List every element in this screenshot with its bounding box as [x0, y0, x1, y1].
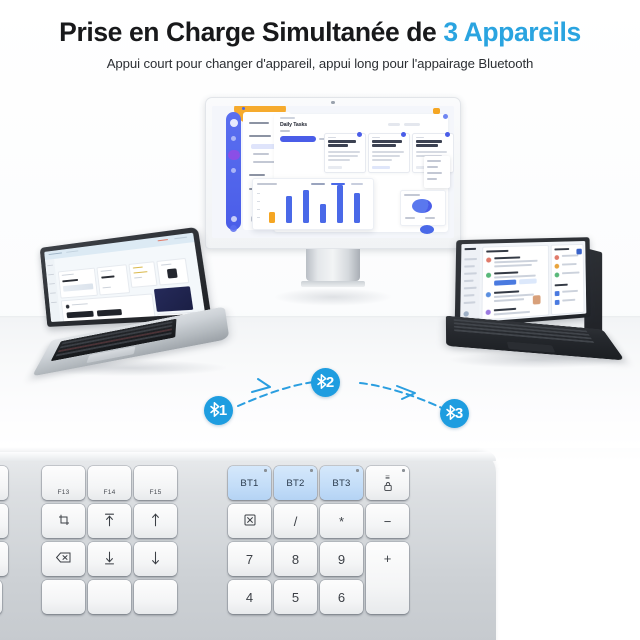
down-arrow-icon	[150, 551, 161, 568]
tablet	[447, 238, 622, 378]
led-indicator	[356, 469, 359, 472]
key-bt3[interactable]: BT3	[320, 466, 363, 500]
bar-chart-card	[252, 178, 374, 230]
key-arrow-down[interactable]	[134, 542, 177, 576]
progress-bar	[280, 136, 316, 142]
key-multiply-label: *	[339, 515, 344, 528]
key-plus-label: +	[384, 552, 392, 565]
key-backspace[interactable]: ←	[0, 504, 8, 538]
key-num5[interactable]: 5	[274, 580, 317, 614]
dashboard-eyebrow	[280, 117, 295, 119]
key-f15[interactable]: F15	[134, 466, 177, 500]
delete-icon-svg	[56, 552, 71, 563]
key-f13-label: F13	[58, 489, 70, 496]
led-indicator	[402, 469, 405, 472]
monitor-bezel: Daily Tasks	[205, 97, 461, 249]
key-crop[interactable]	[42, 504, 85, 538]
key-enter[interactable]	[0, 542, 8, 576]
message-list	[481, 245, 549, 321]
crop-icon-svg	[58, 514, 70, 526]
key-f13[interactable]: F13	[42, 466, 85, 500]
browser-chrome	[44, 233, 194, 260]
rail-item-icon	[231, 136, 236, 141]
delete-icon	[56, 552, 71, 566]
header: Prise en Charge Simultanée de 3 Appareil…	[0, 0, 640, 71]
down-arrow-icon-svg	[150, 551, 161, 565]
metric-card	[58, 268, 98, 299]
decor-dot	[230, 225, 237, 232]
page-up-icon	[104, 513, 115, 530]
key-nav-blank-2[interactable]	[88, 580, 131, 614]
led-indicator	[310, 469, 313, 472]
metric-card	[96, 264, 130, 295]
laptop-lid	[40, 227, 212, 327]
task-card	[324, 133, 366, 173]
key-num6-label: 6	[338, 591, 345, 604]
key-f14[interactable]: F14	[88, 466, 131, 500]
bt-badge-3-number: 3	[455, 406, 463, 421]
lock-small-icon-svg	[384, 482, 392, 491]
key-num9[interactable]: 9	[320, 542, 363, 576]
clear-icon	[244, 514, 256, 529]
monitor-shadow	[273, 288, 393, 306]
key-divide-label: /	[294, 515, 298, 528]
bt-badge-1-number: 1	[219, 403, 227, 418]
key-f15-label: F15	[150, 489, 162, 496]
key-bt1-label: BT1	[240, 478, 258, 489]
desktop-monitor: Daily Tasks	[205, 97, 461, 287]
menu-lines-icon: ≡	[385, 474, 390, 481]
bluetooth-keyboard: ← F13 F14 F15	[0, 452, 496, 640]
key-bt1[interactable]: BT1	[228, 466, 271, 500]
key-shift[interactable]	[0, 580, 2, 614]
key-nav-blank-3[interactable]	[134, 580, 177, 614]
bt-badge-1[interactable]: 1	[204, 396, 233, 425]
rail-logo-icon	[230, 119, 238, 127]
key-minus-label: −	[384, 515, 392, 528]
key-page-down[interactable]	[88, 542, 131, 576]
media-card	[154, 286, 193, 312]
key-plus[interactable]: +	[366, 542, 409, 614]
page-up-icon-svg	[104, 513, 115, 527]
laptop-screen	[44, 233, 205, 322]
key-nav-blank-1[interactable]	[42, 580, 85, 614]
key-num8-label: 8	[292, 553, 299, 566]
list-card	[61, 293, 157, 322]
key-num7[interactable]: 7	[228, 542, 271, 576]
keyboard-top-rim	[0, 452, 496, 461]
lock-small-icon	[384, 482, 392, 493]
clear-icon-svg	[244, 514, 256, 526]
bt-badge-3[interactable]: 3	[440, 399, 469, 428]
dashboard-rail	[226, 112, 241, 230]
bt-badge-2-number: 2	[326, 375, 334, 390]
stat-card	[128, 261, 157, 288]
tablet-app-sidebar	[460, 244, 480, 324]
tablet-trackpad	[507, 342, 555, 353]
key-num4[interactable]: 4	[228, 580, 271, 614]
stat-card	[156, 258, 189, 286]
accent-chip	[576, 249, 581, 255]
key-num9-label: 9	[338, 553, 345, 566]
key-clear[interactable]	[228, 504, 271, 538]
key-delete[interactable]	[42, 542, 85, 576]
webcam-icon	[331, 101, 334, 104]
monitor-screen: Daily Tasks	[212, 106, 454, 238]
title-accent: 3 Appareils	[443, 17, 580, 47]
up-arrow-icon-svg	[150, 513, 161, 527]
key-f14-label: F14	[104, 489, 116, 496]
rail-active-item	[228, 150, 240, 160]
key-num4-label: 4	[246, 591, 253, 604]
decor-square	[433, 108, 440, 114]
key-page-up[interactable]	[88, 504, 131, 538]
pie-chart-card	[400, 190, 446, 226]
up-arrow-icon	[150, 513, 161, 530]
key-num7-label: 7	[246, 553, 253, 566]
dashboard-app: Daily Tasks	[212, 106, 454, 238]
led-indicator	[264, 469, 267, 472]
tablet-screen	[460, 241, 586, 323]
laptop	[25, 225, 231, 387]
dropdown-menu[interactable]	[424, 156, 450, 188]
key-bt3-label: BT3	[332, 478, 350, 489]
dashboard-title: Daily Tasks	[280, 122, 307, 128]
monitor-base	[301, 281, 365, 287]
page-title: Prise en Charge Simultanée de 3 Appareil…	[0, 18, 640, 47]
task-card	[368, 133, 410, 173]
detail-panel	[551, 244, 585, 315]
key-lock[interactable]	[0, 466, 8, 500]
key-bt2[interactable]: BT2	[274, 466, 317, 500]
page-down-icon	[104, 551, 115, 568]
key-num6[interactable]: 6	[320, 580, 363, 614]
key-divide[interactable]: /	[274, 504, 317, 538]
key-num5-label: 5	[292, 591, 299, 604]
pie-chart	[412, 199, 432, 213]
decor-blob	[420, 225, 434, 234]
dashboard-content: Daily Tasks	[274, 114, 448, 232]
rail-settings-icon	[231, 216, 237, 222]
page-subtitle: Appui court pour changer d'appareil, app…	[0, 56, 640, 71]
key-multiply[interactable]: *	[320, 504, 363, 538]
key-arrow-up[interactable]	[134, 504, 177, 538]
decor-dot	[242, 107, 245, 110]
key-eject-lock[interactable]: ≡	[366, 466, 409, 500]
title-plain: Prise en Charge Simultanée de	[59, 17, 443, 47]
monitor-neck	[306, 249, 360, 281]
crop-icon	[58, 514, 70, 529]
tablet-display-housing	[455, 237, 591, 328]
bt-badge-2[interactable]: 2	[311, 368, 340, 397]
product-feature-image: Prise en Charge Simultanée de 3 Appareil…	[0, 0, 640, 640]
key-minus[interactable]: −	[366, 504, 409, 538]
key-bt2-label: BT2	[286, 478, 304, 489]
page-down-icon-svg	[104, 551, 115, 565]
rail-item-icon	[231, 168, 236, 173]
decor-dot	[443, 114, 448, 119]
key-num8[interactable]: 8	[274, 542, 317, 576]
app-sidebar	[45, 259, 60, 322]
